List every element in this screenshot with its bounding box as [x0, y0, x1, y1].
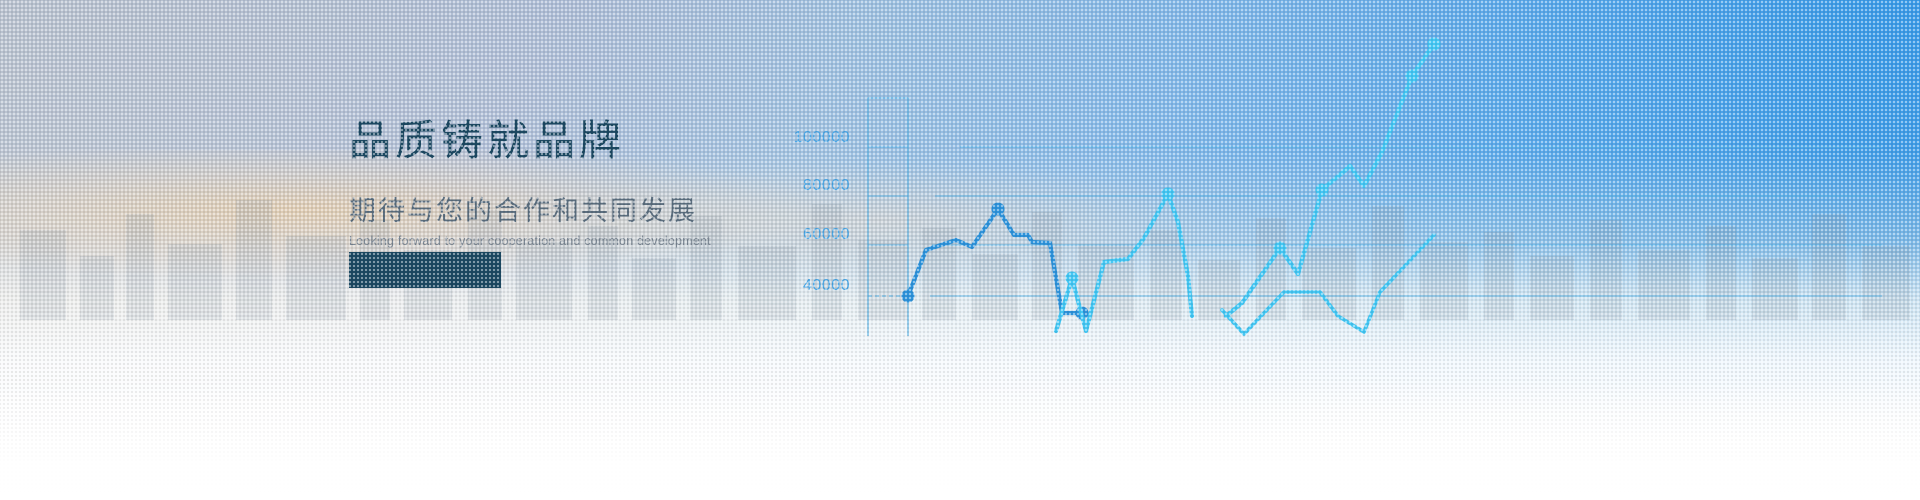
y-tick-40000: 40000	[803, 277, 850, 294]
data-point-marker	[1428, 38, 1441, 51]
data-point-marker	[1162, 188, 1175, 201]
data-point-marker	[902, 290, 915, 303]
subtitle-english: Looking forward to your cooperation and …	[349, 235, 989, 248]
copy-block: 品质铸就品牌 期待与您的合作和共同发展 Looking forward to y…	[349, 120, 989, 248]
data-point-marker	[1406, 70, 1419, 83]
series-3-light-blue-rising	[1226, 38, 1441, 317]
hero-banner: 100000 80000 60000 40000	[0, 0, 1920, 500]
subtitle: 期待与您的合作和共同发展	[349, 198, 989, 225]
line-chart: 100000 80000 60000 40000	[760, 0, 1920, 500]
data-point-marker	[1274, 242, 1287, 255]
cta-button[interactable]	[349, 252, 501, 288]
data-point-marker	[1066, 272, 1079, 285]
series-2-light-blue	[1056, 188, 1192, 332]
data-point-marker	[1316, 184, 1329, 197]
page-title: 品质铸就品牌	[349, 120, 989, 162]
data-point-marker	[992, 203, 1005, 216]
